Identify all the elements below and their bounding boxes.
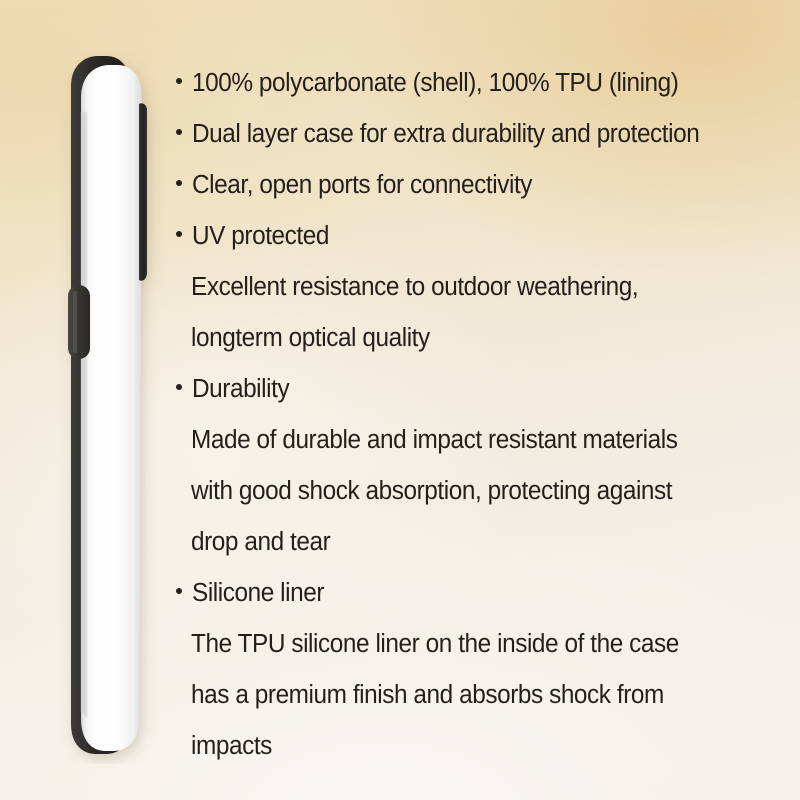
- feature-detail-line: drop and tear: [170, 517, 760, 568]
- case-left-shade: [81, 112, 87, 718]
- feature-bullet-row: Dual layer case for extra durability and…: [170, 109, 788, 160]
- case-front-face: [81, 65, 142, 751]
- feature-block: Dual layer case for extra durability and…: [170, 109, 788, 160]
- product-feature-page: 100% polycarbonate (shell), 100% TPU (li…: [0, 0, 800, 800]
- phone-case-image: [34, 52, 164, 764]
- feature-title: UV protected: [192, 211, 329, 262]
- bullet-dot-icon: [176, 588, 182, 594]
- feature-block: 100% polycarbonate (shell), 100% TPU (li…: [170, 58, 788, 109]
- feature-bullet-row: Silicone liner: [170, 568, 788, 619]
- feature-bullet-row: UV protected: [170, 211, 788, 262]
- bullet-dot-icon: [176, 231, 182, 237]
- feature-title: Clear, open ports for connectivity: [192, 160, 532, 211]
- feature-detail-line: with good shock absorption, protecting a…: [170, 466, 760, 517]
- feature-block: UV protected Excellent resistance to out…: [170, 211, 788, 364]
- case-side-button-highlight: [73, 291, 77, 353]
- feature-detail-line: has a premium finish and absorbs shock f…: [170, 670, 760, 721]
- feature-block: Silicone liner The TPU silicone liner on…: [170, 568, 788, 772]
- case-rim-edge: [139, 103, 147, 281]
- case-side-button: [68, 285, 90, 359]
- bullet-dot-icon: [176, 384, 182, 390]
- bullet-dot-icon: [176, 180, 182, 186]
- feature-bullet-row: 100% polycarbonate (shell), 100% TPU (li…: [170, 58, 788, 109]
- feature-list: 100% polycarbonate (shell), 100% TPU (li…: [170, 58, 788, 772]
- feature-title: 100% polycarbonate (shell), 100% TPU (li…: [192, 58, 678, 109]
- feature-bullet-row: Durability: [170, 364, 788, 415]
- feature-bullet-row: Clear, open ports for connectivity: [170, 160, 788, 211]
- bullet-dot-icon: [176, 129, 182, 135]
- feature-title: Durability: [192, 364, 289, 415]
- feature-detail-line: longterm optical quality: [170, 313, 760, 364]
- bullet-dot-icon: [176, 78, 182, 84]
- feature-detail-line: The TPU silicone liner on the inside of …: [170, 619, 760, 670]
- feature-title: Dual layer case for extra durability and…: [192, 109, 699, 160]
- feature-detail-line: impacts: [170, 721, 760, 772]
- feature-block: Durability Made of durable and impact re…: [170, 364, 788, 568]
- case-highlight: [100, 82, 109, 732]
- feature-detail-line: Made of durable and impact resistant mat…: [170, 415, 760, 466]
- feature-block: Clear, open ports for connectivity: [170, 160, 788, 211]
- feature-title: Silicone liner: [192, 568, 324, 619]
- feature-detail-line: Excellent resistance to outdoor weatheri…: [170, 262, 760, 313]
